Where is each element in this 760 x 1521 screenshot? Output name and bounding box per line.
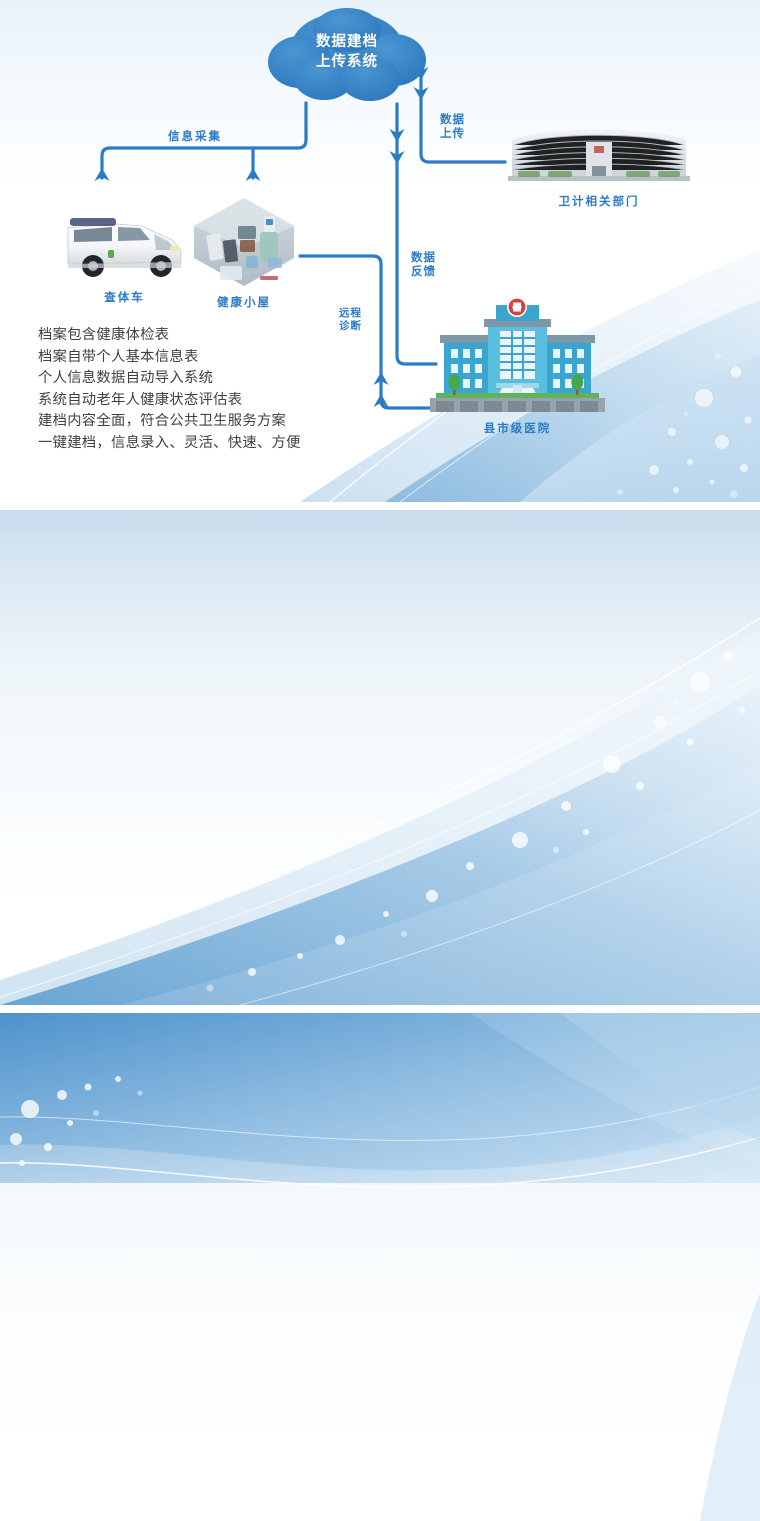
node-label-hospital: 县市级医院 xyxy=(430,420,605,436)
node-label-cabin: 健康小屋 xyxy=(186,294,302,310)
fact-item: 个人信息数据自动导入系统 xyxy=(38,368,301,390)
health-cabin-image xyxy=(186,196,302,300)
section-divider xyxy=(0,502,760,510)
cloud-label: 数据建档 上传系统 xyxy=(262,32,432,72)
section-self-service-archiving: 自助建档 身份证自助一键建档。 xyxy=(0,510,760,1005)
section-data-flow-diagram: 数据建档 上传系统 信息采集 数据 上传 数据 反馈 远程 诊断 xyxy=(0,0,760,502)
medical-examination-van-image xyxy=(62,210,187,282)
poster-page: 数据建档 上传系统 信息采集 数据 上传 数据 反馈 远程 诊断 xyxy=(0,0,760,1521)
node-label-gov: 卫计相关部门 xyxy=(508,193,690,209)
flow-label-feedback: 数据 反馈 xyxy=(411,251,436,279)
fact-item: 档案自带个人基本信息表 xyxy=(38,347,301,369)
background-waves-section3 xyxy=(0,1013,760,1521)
node-label-van: 查体车 xyxy=(62,289,187,305)
health-commission-building-image xyxy=(508,118,690,186)
flow-label-collect: 信息采集 xyxy=(168,130,222,144)
flow-label-remote-diagnosis: 远程 诊断 xyxy=(339,307,362,333)
section-system-advantages: 系统优势 自助建档系统可支持多人同时建档， 一天建档可高达500人次。 xyxy=(0,1013,760,1521)
fact-item: 档案包含健康体检表 xyxy=(38,325,301,347)
section-divider xyxy=(0,1005,760,1013)
fact-item: 系统自动老年人健康状态评估表 xyxy=(38,390,301,412)
fact-item: 一键建档，信息录入、灵活、快速、方便 xyxy=(38,433,301,455)
county-hospital-illustration xyxy=(430,297,605,419)
feature-fact-list: 档案包含健康体检表 档案自带个人基本信息表 个人信息数据自动导入系统 系统自动老… xyxy=(38,325,301,455)
cloud-system-node: 数据建档 上传系统 xyxy=(262,6,432,112)
fact-item: 建档内容全面，符合公共卫生服务方案 xyxy=(38,411,301,433)
background-waves-section2 xyxy=(0,510,760,1005)
flow-label-upload: 数据 上传 xyxy=(440,113,465,141)
